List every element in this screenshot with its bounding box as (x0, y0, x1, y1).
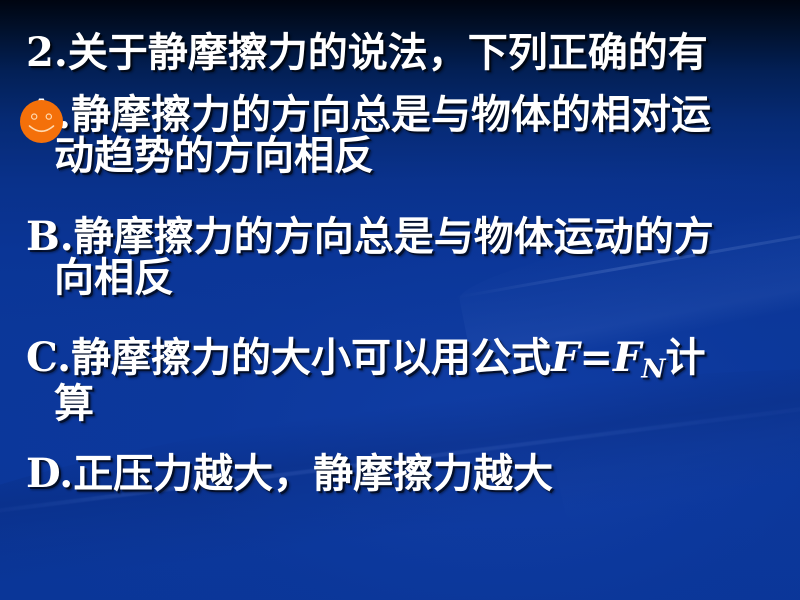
question-number: 2. (26, 29, 68, 76)
option-c-marker: C. (26, 334, 71, 381)
option-a[interactable]: A.静摩擦力的方向总是与物体的相对运动趋势的方向相反 (26, 95, 788, 177)
slide-content: 2.关于静摩擦力的说法，下列正确的有 A.静摩擦力的方向总是与物体的相对运动趋势… (0, 0, 800, 600)
question-stem-text: 关于静摩擦力的说法，下列正确的有 (68, 29, 708, 76)
option-b-text: 静摩擦力的方向总是与物体运动的方 (74, 213, 714, 260)
option-c-text-before-formula: 静摩擦力的大小可以用公式 (71, 334, 551, 381)
option-b-text-continued: 向相反 (26, 258, 788, 299)
formula-rhs-subscript: N (641, 354, 665, 385)
option-a-text-continued: 动趋势的方向相反 (26, 136, 788, 177)
formula-operator: = (579, 334, 613, 381)
option-c[interactable]: C.静摩擦力的大小可以用公式F=FN计算 (26, 338, 788, 424)
option-d[interactable]: D.正压力越大，静摩擦力越大 (26, 454, 788, 495)
formula-lhs: F (551, 334, 579, 381)
option-b-marker: B. (26, 213, 74, 260)
smiley-face-icon[interactable] (19, 99, 64, 144)
option-b[interactable]: B.静摩擦力的方向总是与物体运动的方向相反 (26, 217, 788, 299)
presentation-slide: 2.关于静摩擦力的说法，下列正确的有 A.静摩擦力的方向总是与物体的相对运动趋势… (0, 0, 800, 600)
option-d-marker: D. (26, 450, 73, 497)
option-c-text-after-formula: 计 (666, 334, 706, 381)
formula-friction: F=FN (551, 334, 665, 381)
formula-rhs: F (613, 334, 641, 381)
option-a-text: 静摩擦力的方向总是与物体的相对运 (71, 91, 711, 138)
question-stem: 2.关于静摩擦力的说法，下列正确的有 (26, 33, 788, 74)
option-c-text-continued: 算 (26, 384, 788, 425)
option-d-text: 正压力越大，静摩擦力越大 (73, 450, 553, 497)
